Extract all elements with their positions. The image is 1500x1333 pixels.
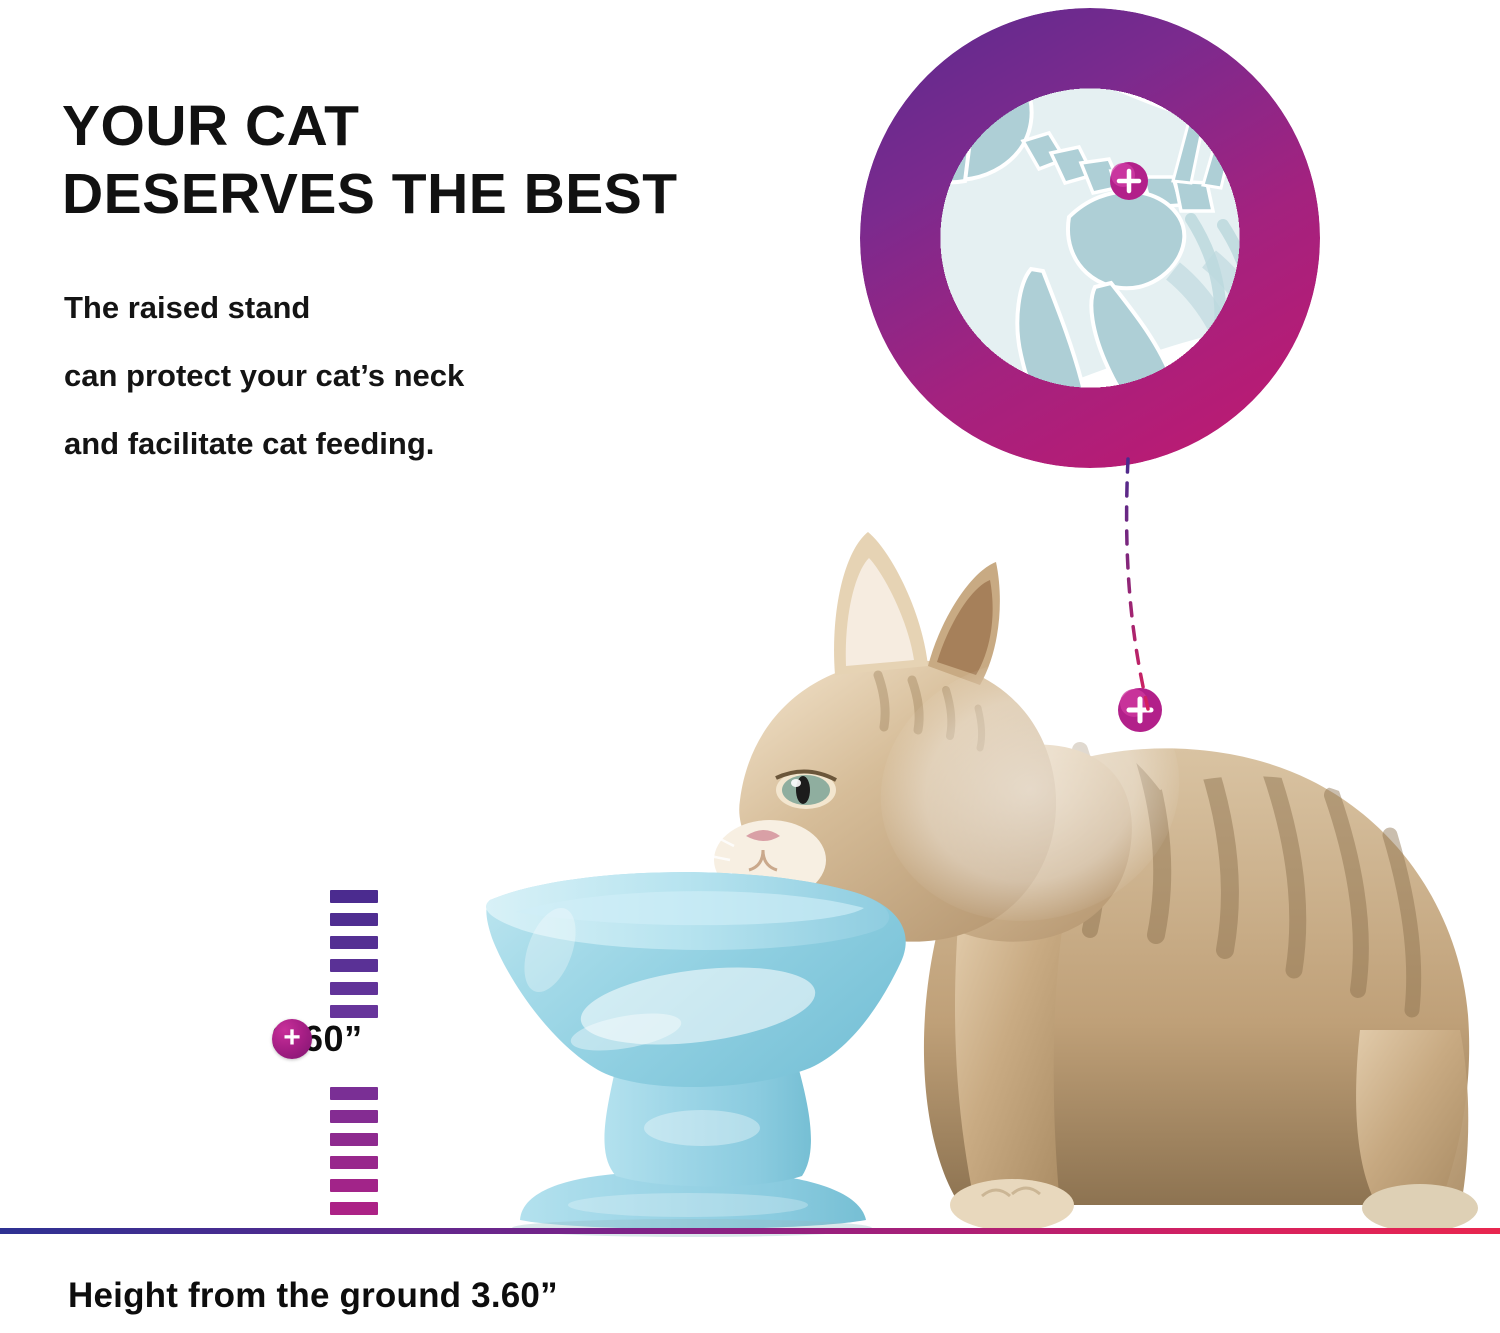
ruler-tick [330, 1110, 378, 1123]
ruler-tick [330, 890, 378, 903]
ruler-tick [330, 1087, 378, 1100]
ruler-tick [330, 982, 378, 995]
headline-line-2: DESERVES THE BEST [62, 164, 862, 226]
headline-block: YOUR CAT DESERVES THE BEST [62, 96, 862, 225]
footer-caption: Height from the ground 3.60” [68, 1276, 558, 1316]
height-measurement-label: 3.60” [272, 1018, 363, 1060]
ruler-tick [330, 1133, 378, 1146]
ruler-tick [330, 936, 378, 949]
ruler-tick [330, 1202, 378, 1215]
plus-icon [272, 1019, 312, 1059]
subcopy-block: The raised stand can protect your cat’s … [64, 292, 764, 496]
subcopy-line-2: can protect your cat’s neck [64, 360, 764, 391]
ruler-tick [330, 959, 378, 972]
subcopy-line-1: The raised stand [64, 292, 764, 323]
ruler-tick [330, 1156, 378, 1169]
subcopy-line-3: and facilitate cat feeding. [64, 428, 764, 459]
ruler-tick [330, 1179, 378, 1192]
promo-image-canvas: YOUR CAT DESERVES THE BEST The raised st… [0, 0, 1500, 1333]
headline-line-1: YOUR CAT [62, 96, 862, 158]
ruler-tick [330, 1005, 378, 1018]
ground-line [0, 1228, 1500, 1234]
ruler-tick [330, 913, 378, 926]
cat-skeleton-xray-inset [860, 8, 1320, 468]
cat-bowl-product [430, 860, 990, 1240]
xray-image [873, 21, 1307, 455]
